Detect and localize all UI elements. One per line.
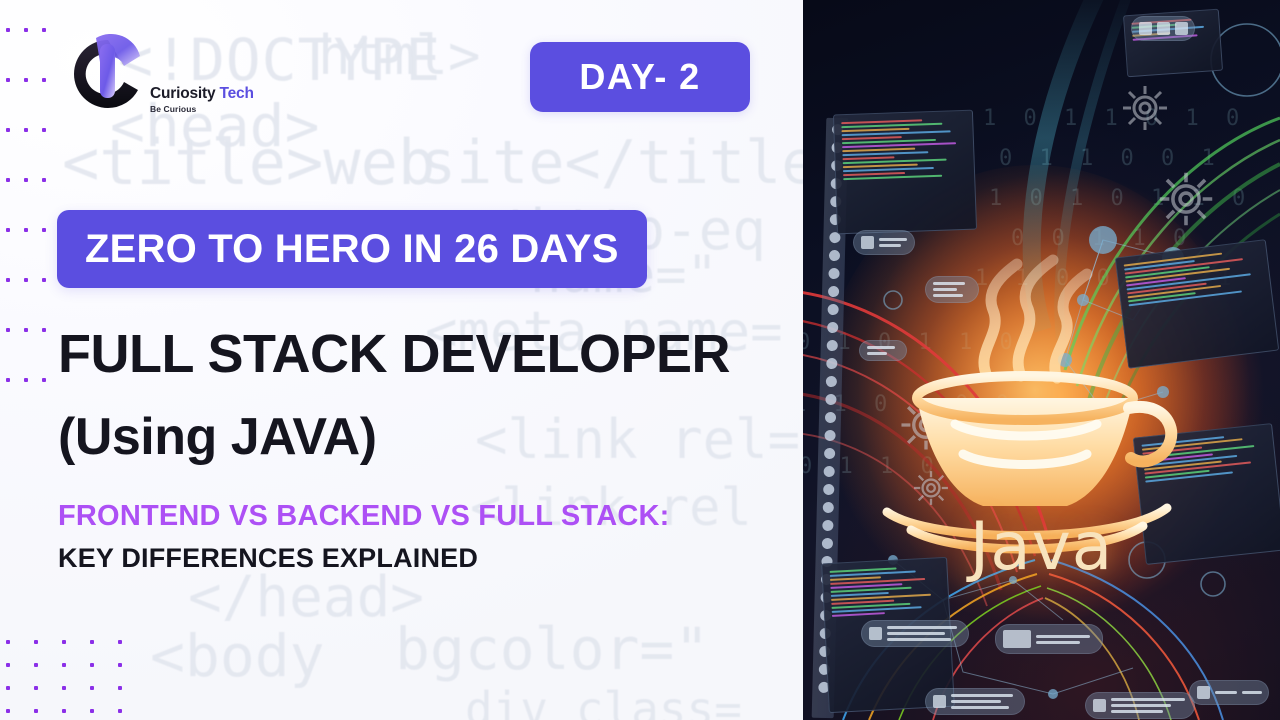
promo-banner-canvas: <!DOCTYPE html> <head> <title>web site</… bbox=[0, 0, 1280, 720]
watermark-code-line: <link rel= bbox=[475, 408, 800, 471]
brand-name-part1: Curiosity bbox=[150, 85, 215, 102]
watermark-code-line: div class= bbox=[465, 682, 742, 720]
dot-grid-top-left bbox=[6, 28, 60, 428]
network-node-card-icon bbox=[1189, 680, 1269, 705]
page-title-line2: (Using JAVA) bbox=[58, 410, 377, 464]
network-node-card-icon bbox=[1131, 16, 1195, 41]
dot-grid-bottom-left bbox=[6, 640, 146, 720]
watermark-code-line: </head> bbox=[188, 565, 424, 630]
curiosity-tech-c-logo-icon bbox=[66, 32, 150, 114]
subtitle-plain: KEY DIFFERENCES EXPLAINED bbox=[58, 543, 478, 574]
code-editor-window-icon bbox=[833, 110, 977, 235]
java-wordmark: Java bbox=[803, 508, 1280, 585]
brand-tagline: Be Curious bbox=[150, 105, 254, 114]
page-title-line1: FULL STACK DEVELOPER bbox=[58, 326, 730, 382]
subtitle-highlight: FRONTEND VS BACKEND VS FULL STACK: bbox=[58, 500, 670, 533]
java-coffee-cup-icon bbox=[871, 258, 1201, 548]
gear-icon bbox=[1155, 168, 1217, 230]
day-badge-label: DAY- 2 bbox=[579, 56, 700, 98]
watermark-code-line: bgcolor=" bbox=[395, 615, 709, 683]
network-node-card-icon bbox=[925, 276, 979, 303]
day-badge[interactable]: DAY- 2 bbox=[530, 42, 750, 112]
network-node-card-icon bbox=[925, 688, 1025, 715]
network-node-card-icon bbox=[853, 230, 915, 255]
watermark-code-line: <title>web bbox=[62, 126, 435, 199]
brand-logo-text: Curiosity Tech Be Curious bbox=[150, 86, 254, 113]
network-node-card-icon bbox=[859, 340, 907, 361]
brand-logo[interactable]: Curiosity Tech Be Curious bbox=[66, 32, 306, 118]
gear-icon bbox=[1119, 82, 1171, 134]
left-content-panel: <!DOCTYPE html> <head> <title>web site</… bbox=[0, 0, 803, 720]
network-node-card-icon bbox=[861, 620, 969, 647]
program-banner-label: ZERO TO HERO IN 26 DAYS bbox=[85, 227, 619, 272]
program-banner[interactable]: ZERO TO HERO IN 26 DAYS bbox=[57, 210, 647, 288]
network-node-card-icon bbox=[995, 624, 1103, 654]
watermark-code-line: html> bbox=[318, 24, 481, 87]
brand-name-part2: Tech bbox=[220, 85, 254, 102]
watermark-code-line: <body bbox=[150, 622, 325, 690]
watermark-code-line: site</title> bbox=[420, 128, 803, 198]
network-node-card-icon bbox=[1085, 692, 1195, 719]
java-artwork-panel: 1 0 1 1 0 1 0 0 1 1 0 0 1 1 0 1 0 1 1 0 … bbox=[803, 0, 1280, 720]
